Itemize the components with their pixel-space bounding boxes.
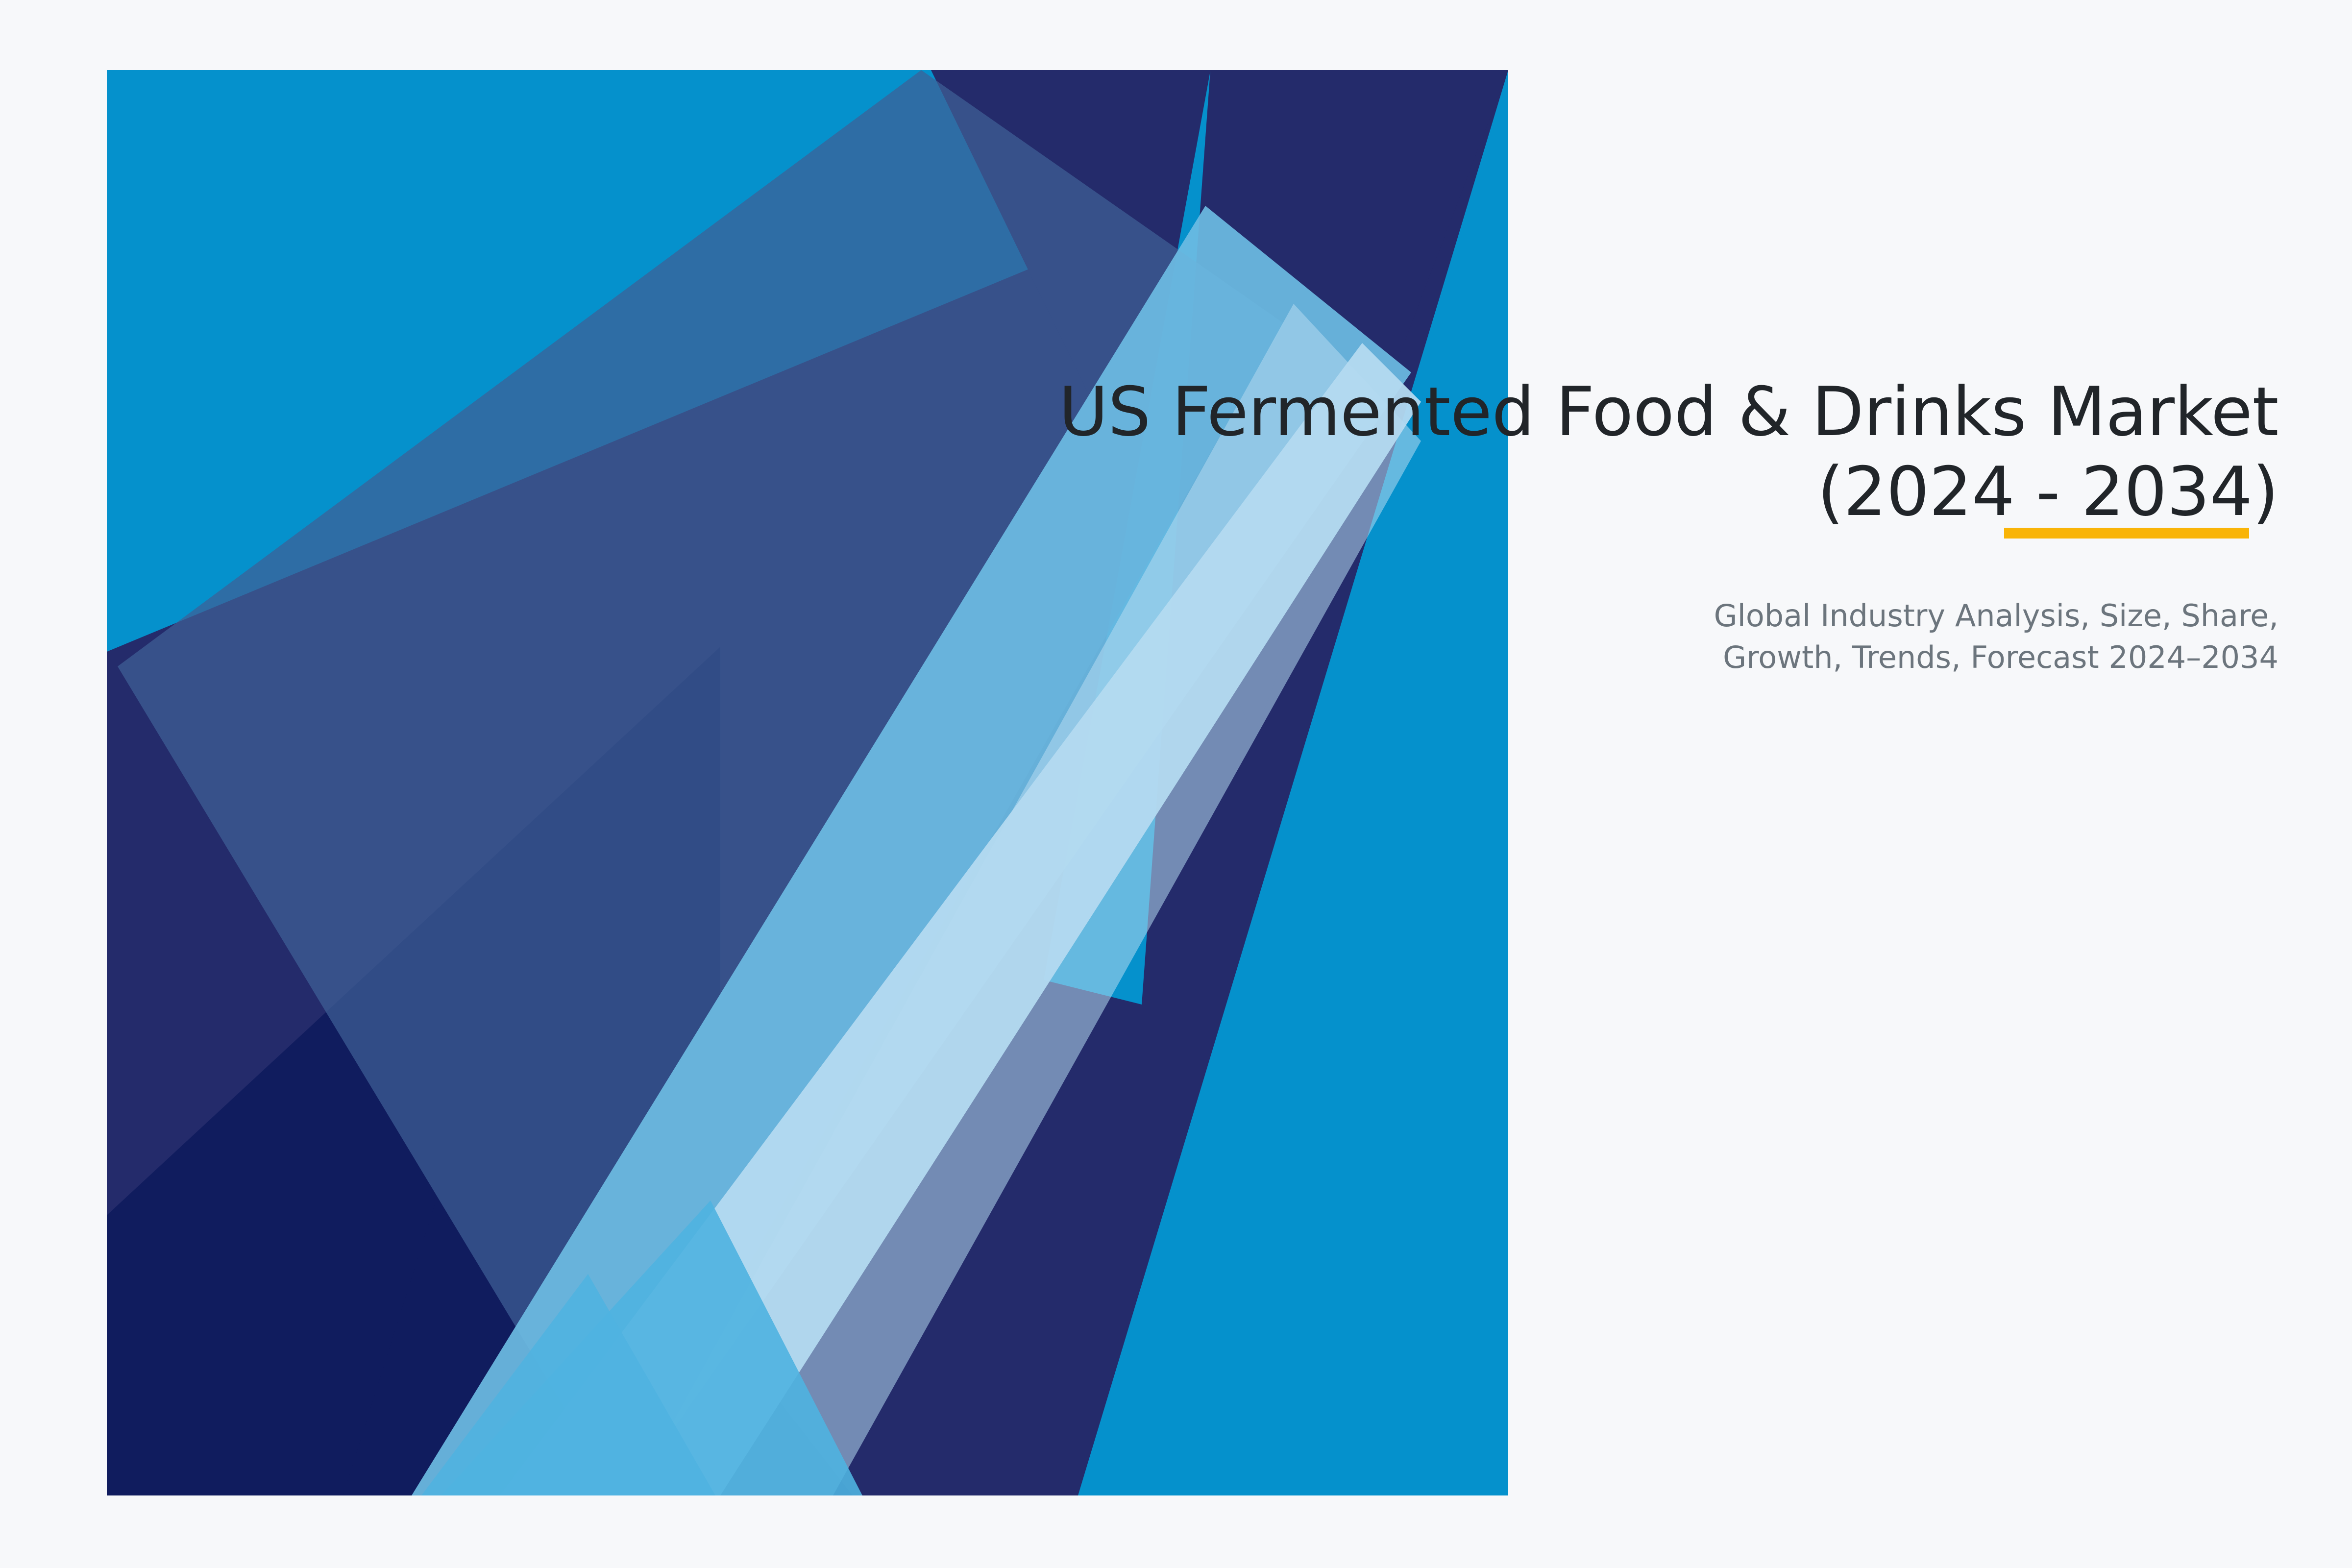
page-title: US Fermented Food & Drinks Market(2024 -… xyxy=(823,372,2278,532)
page-subtitle-line-1: Global Industry Analysis, Size, Share, xyxy=(1714,598,2278,634)
abstract-geometric-artwork xyxy=(0,0,2352,1568)
page-title-line-1: US Fermented Food & Drinks Market xyxy=(1059,372,2278,451)
report-cover-page: US Fermented Food & Drinks Market(2024 -… xyxy=(0,0,2352,1568)
cover-text-block: US Fermented Food & Drinks Market(2024 -… xyxy=(823,372,2278,679)
page-subtitle-line-2: Growth, Trends, Forecast 2024–2034 xyxy=(1723,639,2278,675)
page-subtitle: Global Industry Analysis, Size, Share,Gr… xyxy=(823,595,2278,679)
page-title-line-2: (2024 - 2034) xyxy=(1817,452,2278,531)
